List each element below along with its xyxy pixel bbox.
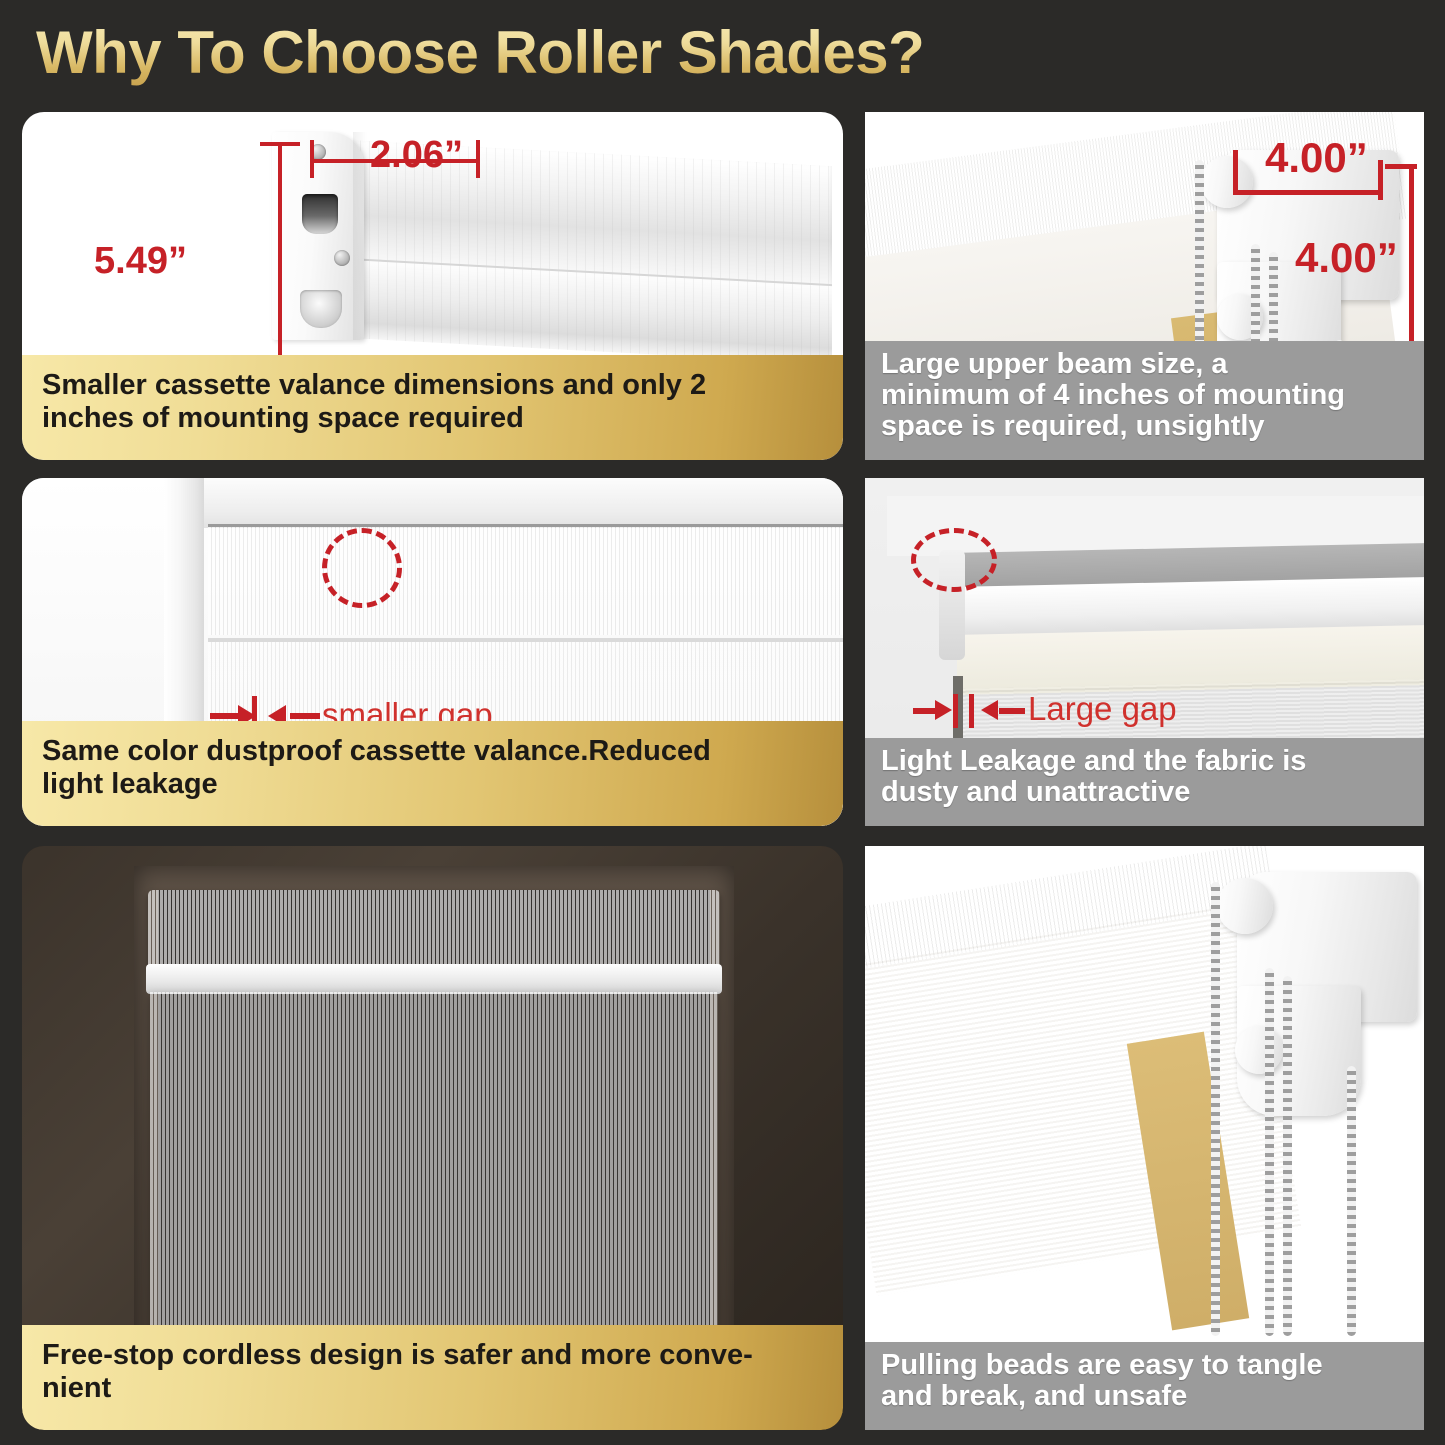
width-dim-tick-right (1378, 160, 1383, 200)
caption-line: inches of mounting space required (42, 402, 825, 434)
caption-line: Smaller cassette valance dimensions and … (42, 369, 825, 401)
valance-bar (146, 964, 722, 994)
gap-marker-bar-2 (969, 694, 974, 728)
caption-line: Light Leakage and the fabric is (881, 746, 1410, 777)
window-frame-top (164, 478, 843, 528)
panel-pulling-beads: Pulling beads are easy to tangle and bre… (865, 846, 1424, 1430)
width-dim-tick-right (476, 140, 480, 178)
caption-line: light leakage (42, 768, 825, 800)
height-dim-tick-top (1385, 164, 1417, 169)
caption-line: Pulling beads are easy to tangle (881, 1350, 1410, 1381)
caption-line: Large upper beam size, a (881, 349, 1410, 380)
panel-caption: Large upper beam size, a minimum of 4 in… (865, 341, 1424, 460)
bead-chain (1283, 976, 1292, 1336)
valance-illustration (272, 130, 832, 365)
highlight-circle-icon (911, 528, 997, 592)
caption-line: space is required, unsightly (881, 411, 1410, 442)
bead-chain (1347, 1066, 1356, 1336)
gap-arrow-right-head (981, 700, 998, 720)
gap-label: Large gap (1028, 690, 1177, 728)
panel-caption: Smaller cassette valance dimensions and … (22, 355, 843, 460)
panel-dustproof-valance: smaller gap Same color dustproof cassett… (22, 478, 843, 826)
infographic-page: Why To Choose Roller Shades? (0, 0, 1445, 1445)
screw-icon (334, 250, 350, 266)
panel-caption: Free-stop cordless design is safer and m… (22, 1325, 843, 1430)
panel-cordless-design: Free-stop cordless design is safer and m… (22, 846, 843, 1430)
caption-line: Free-stop cordless design is safer and m… (42, 1339, 825, 1371)
panel-large-upper-beam: 4.00” 4.00” Large upper beam size, a min… (865, 112, 1424, 460)
width-dim-tick-left (1233, 150, 1238, 190)
height-dim-tick-top (260, 142, 300, 146)
gap-marker-bar (953, 694, 958, 728)
bracket-roller-cap (1201, 156, 1253, 208)
caption-line: nient (42, 1372, 825, 1404)
valance-knob (300, 290, 342, 328)
caption-line: and break, and unsafe (881, 1381, 1410, 1412)
caption-line: Same color dustproof cassette valance.Re… (42, 735, 825, 767)
width-dimension-label: 4.00” (1265, 134, 1368, 182)
cassette-valance (208, 524, 843, 635)
bead-chain (1211, 882, 1220, 1336)
bead-chain (1265, 968, 1274, 1336)
gap-arrow-right-shaft (999, 708, 1025, 714)
valance-slot (302, 194, 338, 234)
caption-line: minimum of 4 inches of mounting (881, 380, 1410, 411)
comparison-grid: 2.06” 5.49” Smaller cassette valance dim… (22, 112, 1424, 1430)
caption-line: dusty and unattractive (881, 777, 1410, 808)
highlight-circle-icon (322, 528, 402, 608)
panel-cassette-valance: 2.06” 5.49” Smaller cassette valance dim… (22, 112, 843, 460)
panel-light-leakage: Large gap Light Leakage and the fabric i… (865, 478, 1424, 826)
width-dimension-label: 2.06” (370, 134, 463, 177)
height-dimension-label: 4.00” (1295, 234, 1398, 282)
bracket-roller-cap-lower (1235, 1026, 1283, 1074)
panel-caption: Same color dustproof cassette valance.Re… (22, 721, 843, 826)
gap-arrow-left-head (935, 700, 952, 720)
panel-caption: Pulling beads are easy to tangle and bre… (865, 1342, 1424, 1430)
height-dimension-label: 5.49” (94, 240, 187, 283)
width-dim-line (1233, 190, 1383, 195)
height-dim-line (1409, 164, 1414, 350)
valance-end-cap (272, 132, 364, 340)
bracket-roller-cap (1217, 878, 1273, 934)
gap-arrow-right-shaft (290, 713, 320, 719)
width-dim-tick-left (310, 140, 314, 178)
roller-shade (150, 992, 718, 1360)
page-title: Why To Choose Roller Shades? (36, 18, 924, 87)
cassette-headrail (148, 890, 720, 968)
panel-caption: Light Leakage and the fabric is dusty an… (865, 738, 1424, 826)
